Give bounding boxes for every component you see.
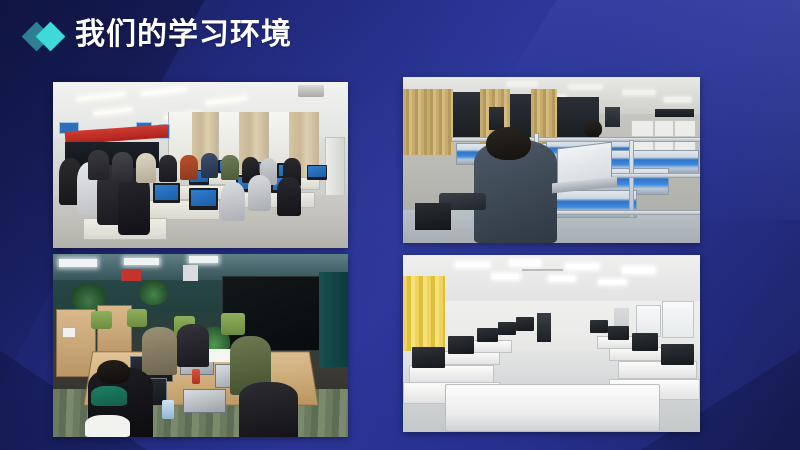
- monitor: [516, 317, 534, 331]
- student: [248, 175, 272, 212]
- monitor: [498, 322, 516, 334]
- front-demonstration-table: [445, 384, 661, 432]
- ceiling-light: [189, 256, 219, 263]
- student: [180, 155, 198, 180]
- student: [177, 324, 209, 368]
- ceiling-light: [124, 258, 159, 265]
- student: [221, 182, 245, 222]
- ceiling-light: [569, 85, 602, 89]
- student-head: [97, 360, 129, 384]
- presentation-slide: 我们的学习环境: [0, 0, 800, 450]
- monitor: [661, 344, 694, 365]
- photo-computer-classroom-with-students: [53, 82, 348, 248]
- ceiling-light: [664, 97, 691, 102]
- safety-railing: [534, 210, 700, 215]
- monitor: [590, 320, 608, 332]
- railing-post: [629, 140, 634, 218]
- wall-panel: [183, 265, 198, 281]
- student: [201, 153, 219, 178]
- ceiling-light: [623, 267, 656, 272]
- potted-plant: [139, 280, 169, 306]
- monitor: [153, 183, 180, 203]
- student: [88, 150, 109, 180]
- green-curtain: [319, 272, 349, 367]
- monitor: [477, 328, 498, 342]
- green-chair: [221, 313, 245, 335]
- white-chair: [85, 415, 129, 437]
- background-person-head: [584, 120, 602, 137]
- monitor: [307, 165, 328, 180]
- monitor: [412, 347, 445, 368]
- projector: [298, 85, 325, 97]
- monitor: [448, 336, 475, 354]
- slide-title-block: 我们的学习环境: [26, 20, 292, 50]
- ceiling-light: [492, 274, 519, 278]
- desk-front: [415, 203, 451, 230]
- ceiling-light: [507, 82, 537, 86]
- window: [662, 301, 694, 338]
- computer-tower: [537, 313, 552, 341]
- photo-3-scene: [53, 254, 348, 437]
- ceiling-light: [59, 259, 97, 266]
- photo-empty-computer-lab: [403, 255, 700, 432]
- page-title: 我们的学习环境: [75, 20, 292, 50]
- student: [142, 327, 177, 375]
- ceiling-light: [510, 260, 540, 265]
- monitor: [632, 333, 659, 351]
- laptop: [183, 389, 226, 413]
- ceiling-light: [456, 262, 489, 267]
- student-head: [486, 127, 531, 160]
- student: [221, 155, 239, 180]
- student: [159, 155, 177, 182]
- dark-window: [453, 92, 480, 138]
- title-bullet-diamonds: [26, 26, 61, 47]
- green-hoodie: [91, 386, 126, 406]
- green-chair: [127, 309, 148, 327]
- student: [239, 382, 298, 437]
- monitor: [189, 188, 219, 210]
- wall-speaker: [605, 107, 620, 127]
- drink-cup: [192, 369, 201, 384]
- photo-4-scene: [403, 255, 700, 432]
- window-curtain: [427, 89, 454, 155]
- photo-study-room-group-work: [53, 254, 348, 437]
- display-sign: [655, 109, 694, 117]
- wall-banner: [121, 269, 142, 282]
- green-chair: [91, 311, 112, 329]
- student: [136, 153, 157, 183]
- booth-label: [62, 327, 76, 338]
- ceiling-light: [599, 280, 626, 284]
- ceiling-light: [566, 264, 599, 269]
- monitor: [608, 326, 629, 340]
- photo-student-at-laptop-in-equipment-lab: [403, 77, 700, 243]
- ceiling-light: [623, 90, 656, 95]
- photo-1-scene: [53, 82, 348, 248]
- window: [636, 305, 662, 337]
- student: [112, 152, 133, 182]
- photo-2-scene: [403, 77, 700, 243]
- water-bottle: [162, 400, 174, 418]
- ceiling-fan-rod: [522, 269, 564, 271]
- student: [277, 177, 301, 217]
- ceiling-light: [549, 276, 576, 280]
- window-curtain: [403, 89, 427, 155]
